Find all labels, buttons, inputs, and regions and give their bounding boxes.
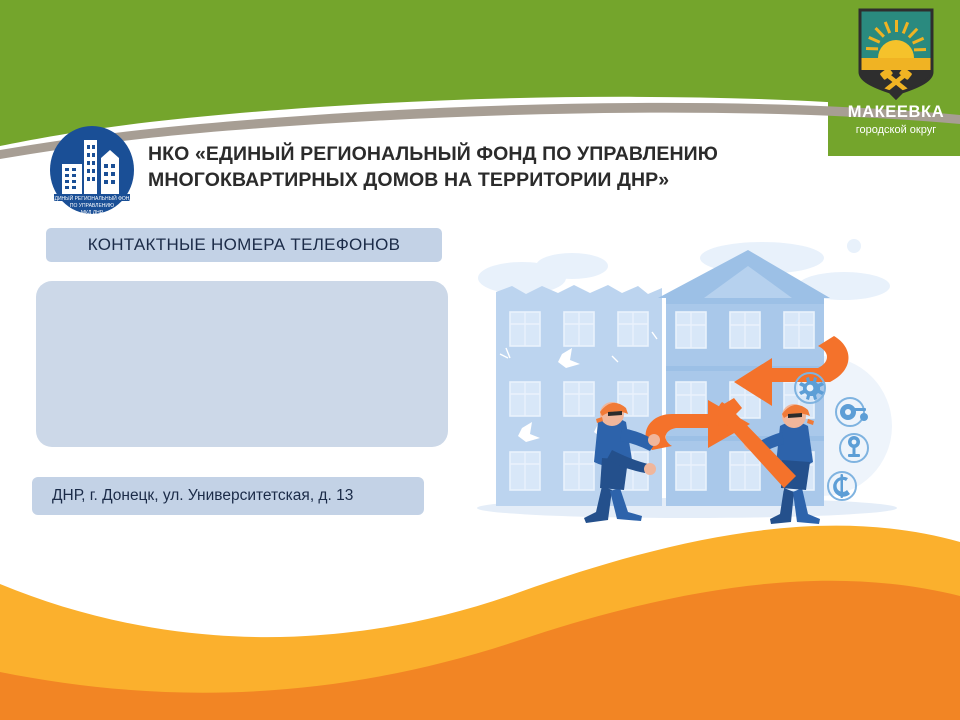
phones-panel xyxy=(36,281,448,447)
slide-canvas: МАКЕЕВКА городской округ xyxy=(0,0,960,720)
address-label: ДНР, г. Донецк, ул. Университетская, д. … xyxy=(32,487,353,505)
organisation-header: ЕДИНЫЙ РЕГИОНАЛЬНЫЙ ФОНД ПО УПРАВЛЕНИЮ М… xyxy=(46,124,726,216)
contacts-heading: КОНТАКТНЫЕ НОМЕРА ТЕЛЕФОНОВ xyxy=(46,228,442,262)
org-title-line-1: НКО «ЕДИНЫЙ РЕГИОНАЛЬНЫЙ ФОНД ПО УПРАВЛЕ… xyxy=(148,142,718,168)
svg-text:ПО УПРАВЛЕНИЮ: ПО УПРАВЛЕНИЮ xyxy=(70,203,114,209)
emblem-title: МАКЕЕВКА xyxy=(832,103,960,121)
address-bar: ДНР, г. Донецк, ул. Университетская, д. … xyxy=(32,477,424,515)
building-renovation-illustration xyxy=(462,236,908,532)
emblem-subtitle: городской округ xyxy=(832,124,960,136)
buildings-circle-logo-icon: ЕДИНЫЙ РЕГИОНАЛЬНЫЙ ФОНД ПО УПРАВЛЕНИЮ М… xyxy=(46,124,138,216)
page-title: НКО «ЕДИНЫЙ РЕГИОНАЛЬНЫЙ ФОНД ПО УПРАВЛЕ… xyxy=(148,142,718,193)
makeevka-emblem: МАКЕЕВКА городской округ xyxy=(832,0,960,156)
coat-of-arms-icon xyxy=(854,6,938,102)
contacts-heading-label: КОНТАКТНЫЕ НОМЕРА ТЕЛЕФОНОВ xyxy=(88,235,401,255)
svg-text:ЕДИНЫЙ РЕГИОНАЛЬНЫЙ ФОНД: ЕДИНЫЙ РЕГИОНАЛЬНЫЙ ФОНД xyxy=(51,194,133,202)
old-damaged-building xyxy=(496,285,662,506)
org-title-line-2: МНОГОКВАРТИРНЫХ ДОМОВ НА ТЕРРИТОРИИ ДНР» xyxy=(148,168,718,194)
svg-text:МКД ДНР: МКД ДНР xyxy=(81,210,104,216)
